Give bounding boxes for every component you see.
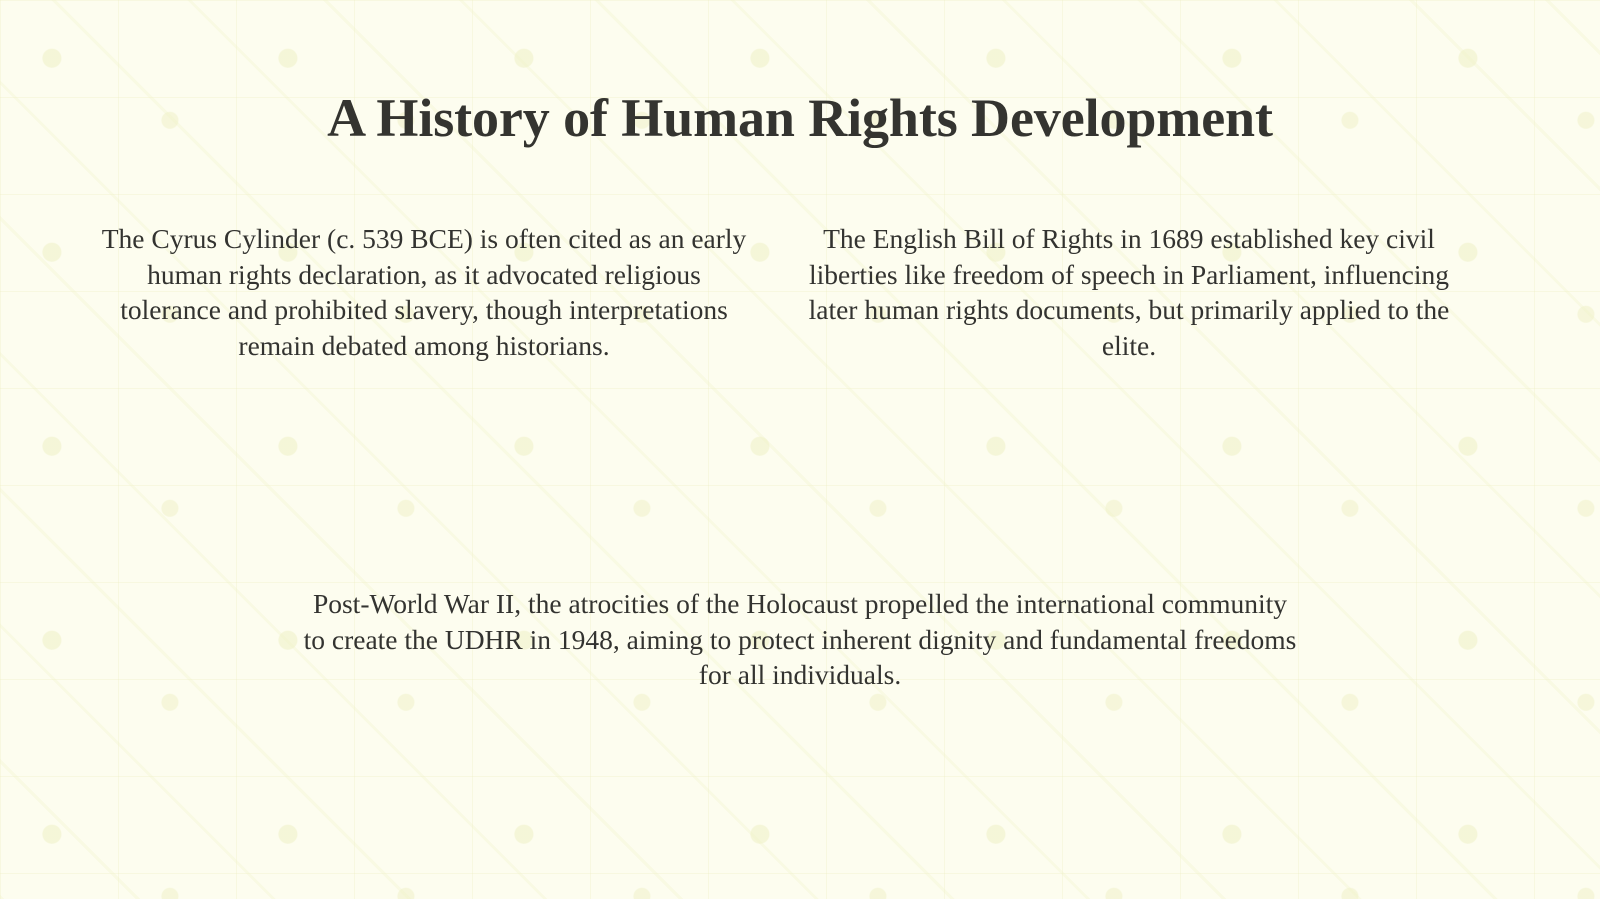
- slide-root: A History of Human Rights Development Th…: [0, 0, 1600, 899]
- body-column-cyrus-cylinder: The Cyrus Cylinder (c. 539 BCE) is often…: [100, 221, 748, 363]
- body-paragraph-text: The English Bill of Rights in 1689 estab…: [809, 223, 1450, 361]
- slide-content: A History of Human Rights Development Th…: [0, 0, 1600, 899]
- page-title: A History of Human Rights Development: [0, 88, 1600, 148]
- bottom-block: Post-World War II, the atrocities of the…: [0, 586, 1600, 693]
- body-paragraph-udhr: Post-World War II, the atrocities of the…: [300, 586, 1300, 693]
- body-paragraph-text: The Cyrus Cylinder (c. 539 BCE) is often…: [102, 223, 747, 361]
- body-column-english-bill-of-rights: The English Bill of Rights in 1689 estab…: [784, 221, 1474, 363]
- two-column-body: The Cyrus Cylinder (c. 539 BCE) is often…: [100, 221, 1474, 363]
